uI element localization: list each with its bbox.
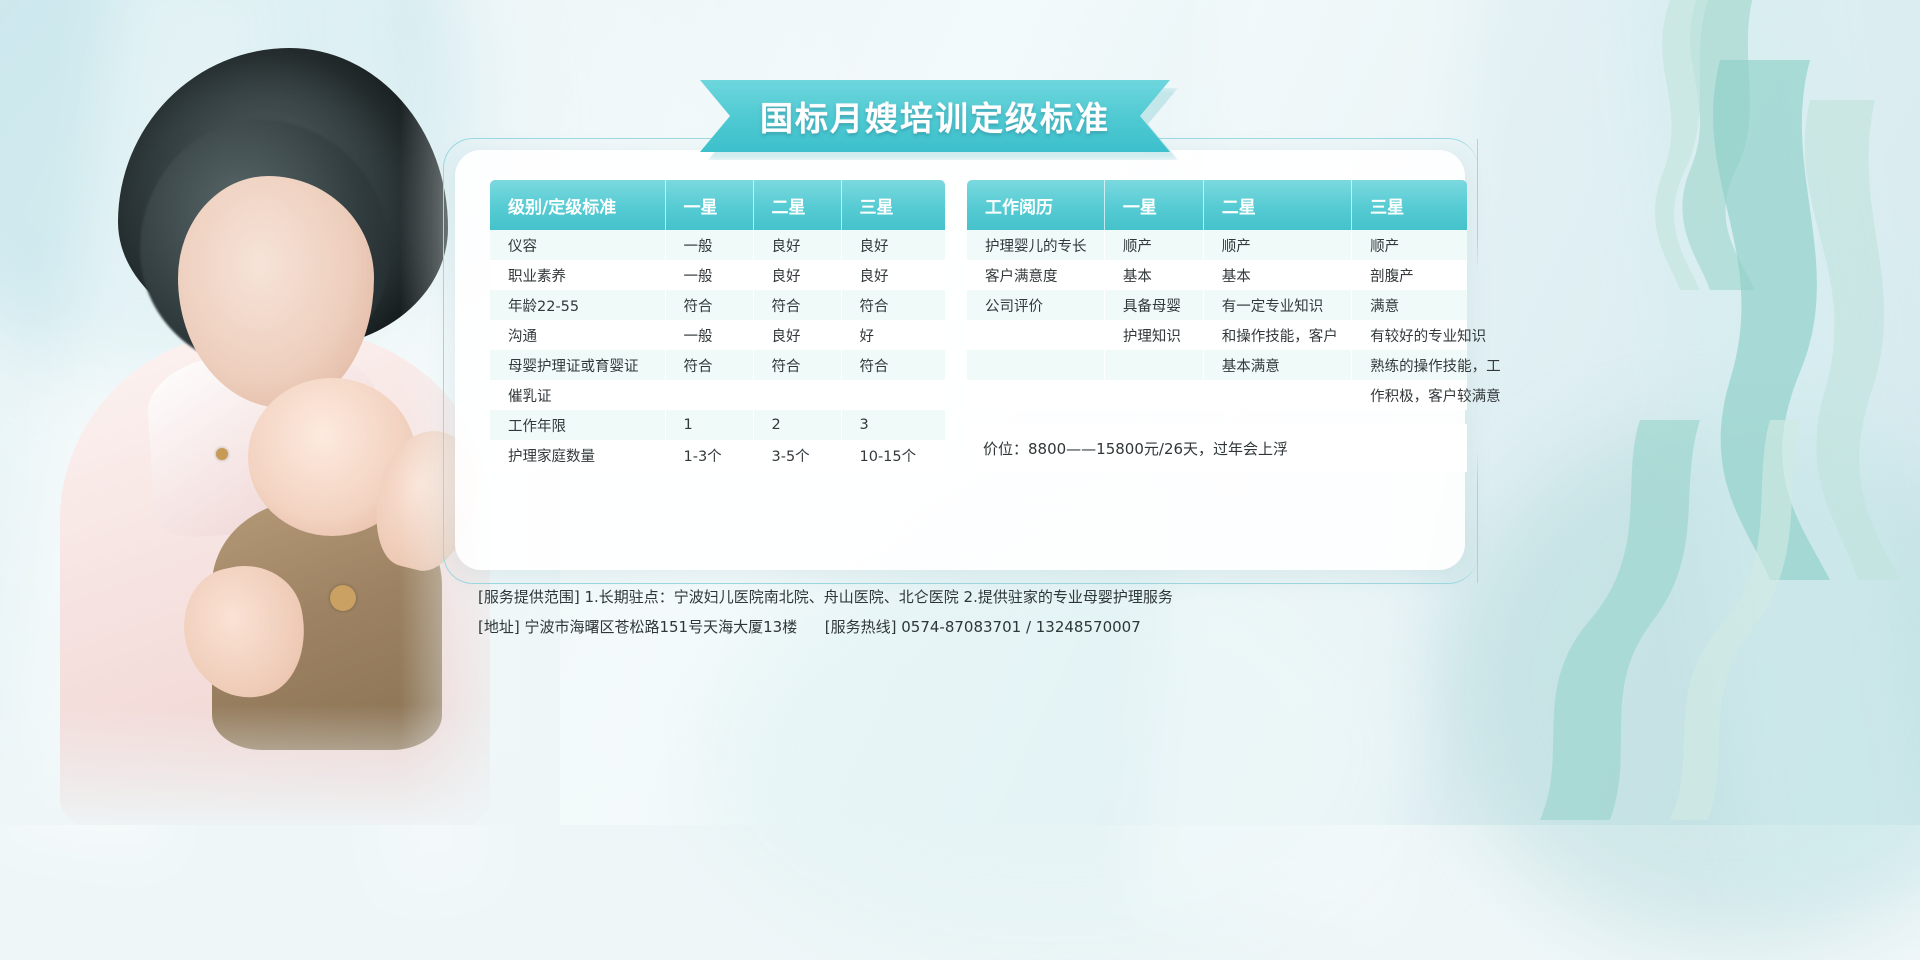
footer-address: [地址] 宁波市海曙区苍松路151号天海大厦13楼	[478, 618, 797, 636]
row-three-star: 好	[841, 320, 945, 350]
table-row: 护理婴儿的专长 顺产 顺产 顺产	[967, 230, 1467, 260]
tables-container: 级别/定级标准 一星 二星 三星 仪容 一般 良好 良好 职业素养 一般 良好	[490, 180, 1450, 472]
row-one-star: 顺产	[1104, 230, 1203, 260]
row-one-star	[1104, 380, 1203, 410]
row-criterion	[967, 350, 1104, 380]
row-two-star: 有一定专业知识	[1203, 290, 1351, 320]
row-three-star: 作积极，客户较满意	[1352, 380, 1467, 410]
row-three-star: 良好	[841, 260, 945, 290]
table-row: 年龄22-55 符合 符合 符合	[490, 290, 945, 320]
page-title: 国标月嫂培训定级标准	[760, 92, 1110, 140]
table-row: 母婴护理证或育婴证 符合 符合 符合	[490, 350, 945, 380]
row-criterion: 护理家庭数量	[490, 440, 665, 470]
right-table-header-row: 工作阅历 一星 二星 三星	[967, 180, 1467, 230]
row-two-star: 顺产	[1203, 230, 1351, 260]
right-header-three-star: 三星	[1352, 180, 1467, 230]
row-one-star: 护理知识	[1104, 320, 1203, 350]
row-two-star: 良好	[753, 320, 841, 350]
left-header-three-star: 三星	[841, 180, 945, 230]
table-row: 仪容 一般 良好 良好	[490, 230, 945, 260]
table-row: 催乳证	[490, 380, 945, 410]
row-two-star: 和操作技能，客户	[1203, 320, 1351, 350]
row-three-star: 3	[841, 410, 945, 440]
row-three-star: 顺产	[1352, 230, 1467, 260]
grading-standard-table: 级别/定级标准 一星 二星 三星 仪容 一般 良好 良好 职业素养 一般 良好	[490, 180, 945, 470]
left-header-criterion: 级别/定级标准	[490, 180, 665, 230]
row-criterion: 沟通	[490, 320, 665, 350]
row-one-star: 1-3个	[665, 440, 753, 470]
row-criterion: 职业素养	[490, 260, 665, 290]
row-two-star: 基本	[1203, 260, 1351, 290]
right-header-one-star: 一星	[1104, 180, 1203, 230]
row-one-star	[1104, 350, 1203, 380]
table-row: 护理家庭数量 1-3个 3-5个 10-15个	[490, 440, 945, 470]
row-criterion: 催乳证	[490, 380, 665, 410]
photo-bottom-fade	[0, 705, 560, 825]
row-two-star: 良好	[753, 260, 841, 290]
footer-info: [服务提供范围] 1.长期驻点：宁波妇儿医院南北院、舟山医院、北仑医院 2.提供…	[478, 582, 1478, 642]
row-criterion: 客户满意度	[967, 260, 1104, 290]
row-criterion: 仪容	[490, 230, 665, 260]
footer-service-scope: [服务提供范围] 1.长期驻点：宁波妇儿医院南北院、舟山医院、北仑医院 2.提供…	[478, 582, 1478, 612]
row-two-star: 符合	[753, 350, 841, 380]
row-criterion: 年龄22-55	[490, 290, 665, 320]
photo-button-detail-1	[216, 448, 228, 460]
row-three-star: 满意	[1352, 290, 1467, 320]
work-experience-table: 工作阅历 一星 二星 三星 护理婴儿的专长 顺产 顺产 顺产 客户满意度 基本 …	[967, 180, 1467, 410]
row-three-star: 符合	[841, 290, 945, 320]
row-two-star: 2	[753, 410, 841, 440]
row-three-star: 熟练的操作技能，工	[1352, 350, 1467, 380]
row-criterion: 护理婴儿的专长	[967, 230, 1104, 260]
row-one-star: 一般	[665, 260, 753, 290]
row-criterion	[967, 380, 1104, 410]
right-header-two-star: 二星	[1203, 180, 1351, 230]
row-one-star: 一般	[665, 320, 753, 350]
row-three-star: 良好	[841, 230, 945, 260]
table-row: 工作年限 1 2 3	[490, 410, 945, 440]
row-three-star: 剖腹产	[1352, 260, 1467, 290]
row-three-star: 10-15个	[841, 440, 945, 470]
row-one-star: 1	[665, 410, 753, 440]
row-three-star	[841, 380, 945, 410]
row-one-star: 基本	[1104, 260, 1203, 290]
table-row: 作积极，客户较满意	[967, 380, 1467, 410]
row-one-star: 具备母婴	[1104, 290, 1203, 320]
footer-contact-line: [地址] 宁波市海曙区苍松路151号天海大厦13楼 [服务热线] 0574-87…	[478, 612, 1478, 642]
row-two-star	[753, 380, 841, 410]
row-one-star: 符合	[665, 290, 753, 320]
row-two-star: 3-5个	[753, 440, 841, 470]
footer-hotline[interactable]: [服务热线] 0574-87083701 / 13248570007	[825, 618, 1141, 636]
price-note: 价位：8800——15800元/26天，过年会上浮	[967, 424, 1467, 472]
row-one-star: 符合	[665, 350, 753, 380]
row-criterion: 公司评价	[967, 290, 1104, 320]
row-criterion: 母婴护理证或育婴证	[490, 350, 665, 380]
left-table-wrapper: 级别/定级标准 一星 二星 三星 仪容 一般 良好 良好 职业素养 一般 良好	[490, 180, 945, 472]
table-row: 职业素养 一般 良好 良好	[490, 260, 945, 290]
table-row: 沟通 一般 良好 好	[490, 320, 945, 350]
row-one-star	[665, 380, 753, 410]
table-row: 护理知识 和操作技能，客户 有较好的专业知识	[967, 320, 1467, 350]
right-header-criterion: 工作阅历	[967, 180, 1104, 230]
row-two-star: 基本满意	[1203, 350, 1351, 380]
row-three-star: 有较好的专业知识	[1352, 320, 1467, 350]
table-row: 公司评价 具备母婴 有一定专业知识 满意	[967, 290, 1467, 320]
row-two-star	[1203, 380, 1351, 410]
left-table-header-row: 级别/定级标准 一星 二星 三星	[490, 180, 945, 230]
left-header-one-star: 一星	[665, 180, 753, 230]
title-banner: 国标月嫂培训定级标准	[700, 80, 1170, 152]
table-row: 基本满意 熟练的操作技能，工	[967, 350, 1467, 380]
row-two-star: 良好	[753, 230, 841, 260]
right-table-body: 护理婴儿的专长 顺产 顺产 顺产 客户满意度 基本 基本 剖腹产 公司评价 具备…	[967, 230, 1467, 410]
table-row: 客户满意度 基本 基本 剖腹产	[967, 260, 1467, 290]
left-header-two-star: 二星	[753, 180, 841, 230]
row-criterion	[967, 320, 1104, 350]
row-three-star: 符合	[841, 350, 945, 380]
right-table-wrapper: 工作阅历 一星 二星 三星 护理婴儿的专长 顺产 顺产 顺产 客户满意度 基本 …	[967, 180, 1467, 472]
row-criterion: 工作年限	[490, 410, 665, 440]
row-one-star: 一般	[665, 230, 753, 260]
photo-button-detail-2	[330, 585, 356, 611]
row-two-star: 符合	[753, 290, 841, 320]
left-table-body: 仪容 一般 良好 良好 职业素养 一般 良好 良好 年龄22-55 符合 符合 …	[490, 230, 945, 470]
